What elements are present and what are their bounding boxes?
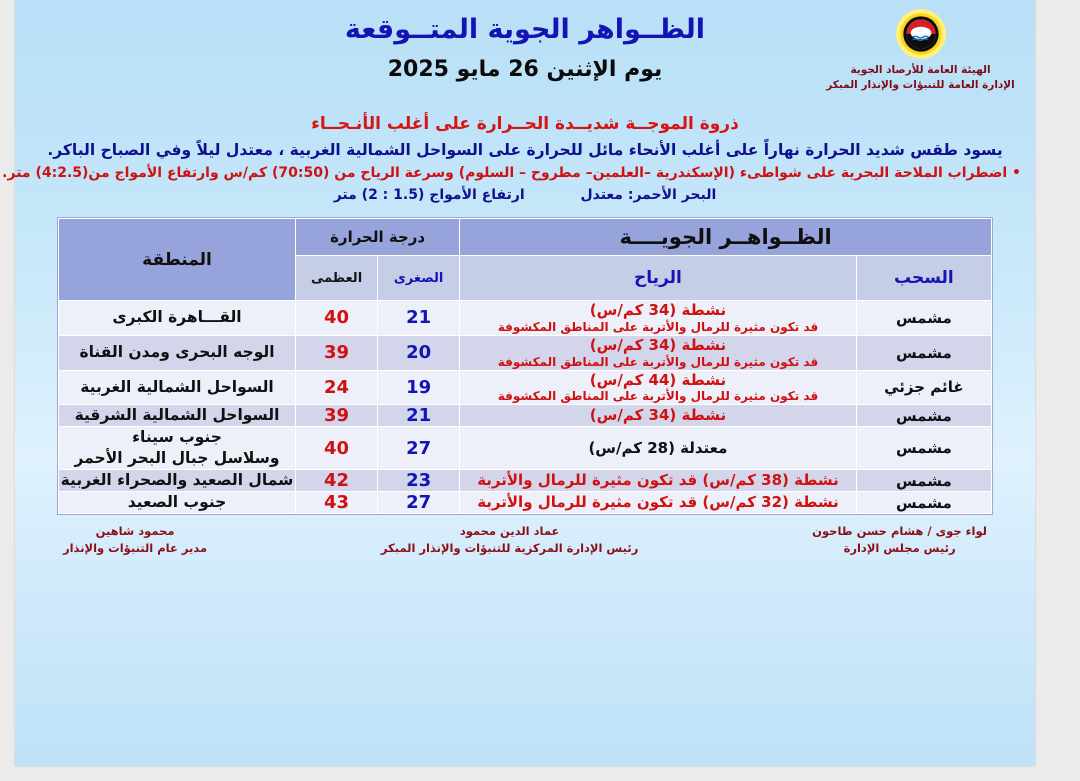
cell-max-temp: 40 xyxy=(296,427,378,470)
cell-wind: نشطة (34 كم/س)قد تكون مثيرة للرمال والأت… xyxy=(460,335,857,370)
header-group-temperature: درجة الحرارة xyxy=(296,219,460,256)
red-sea-wave-height: ارتفاع الأمواج (1.5 : 2) متر xyxy=(334,187,525,203)
page-title: الظــواهر الجوية المتــوقعة xyxy=(15,14,1035,45)
cell-min-temp: 23 xyxy=(378,470,460,492)
document-page: الهيئة العامة للأرصاد الجوية الإدارة الع… xyxy=(15,0,1035,766)
header-column-region: المنطقة xyxy=(59,219,296,301)
cell-wind: معتدلة (28 كم/س) xyxy=(460,427,857,470)
wind-speed-text: نشطة (44 كم/س) xyxy=(460,371,856,390)
cell-region: جنوب سيناءوسلاسل جبال البحر الأحمر xyxy=(59,427,296,470)
cell-region: جنوب الصعيد xyxy=(59,492,296,514)
table-row: مشمسمعتدلة (28 كم/س)2740جنوب سيناءوسلاسل… xyxy=(59,427,992,470)
heatwave-headline: ذروة الموجــة شديــدة الحــرارة على أغلب… xyxy=(29,114,1021,134)
document-header: الهيئة العامة للأرصاد الجوية الإدارة الع… xyxy=(15,0,1035,112)
header-group-phenomena: الظــواهــر الجويــــة xyxy=(460,219,992,256)
cell-min-temp: 19 xyxy=(378,370,460,405)
table-row: مشمسنشطة (38 كم/س) قد تكون مثيرة للرمال … xyxy=(59,470,992,492)
signature-name: لواء جوى / هشام حسن طاحون xyxy=(812,523,987,540)
signature-title: رئيس مجلس الإدارة xyxy=(812,540,987,557)
wind-speed-text: نشطة (34 كم/س) xyxy=(460,301,856,320)
red-sea-conditions: البحر الأحمر: معتدل ارتفاع الأمواج (1.5 … xyxy=(29,187,1021,203)
cell-max-temp: 43 xyxy=(296,492,378,514)
cell-wind: نشطة (38 كم/س) قد تكون مثيرة للرمال والأ… xyxy=(460,470,857,492)
cell-cloud: مشمس xyxy=(856,335,991,370)
marine-warning-text: • اضطراب الملاحة البحرية على شواطىء (الإ… xyxy=(29,165,1021,181)
signature-name: عماد الدين محمود xyxy=(381,523,638,540)
forecast-table: الظــواهــر الجويــــة درجة الحرارة المن… xyxy=(58,218,992,514)
cell-max-temp: 42 xyxy=(296,470,378,492)
cell-region: شمال الصعيد والصحراء الغربية xyxy=(59,470,296,492)
cell-region: السواحل الشمالية الغربية xyxy=(59,370,296,405)
table-row: غائم جزئينشطة (44 كم/س)قد تكون مثيرة للر… xyxy=(59,370,992,405)
wind-speed-text: نشطة (38 كم/س) قد تكون مثيرة للرمال والأ… xyxy=(460,471,856,490)
signature-footer: محمود شاهين مدير عام التنبؤات والإنذار ع… xyxy=(63,523,987,558)
cell-min-temp: 27 xyxy=(378,427,460,470)
general-forecast-text: يسود طقس شديد الحرارة نهاراً على أغلب ال… xyxy=(29,141,1021,159)
cell-min-temp: 20 xyxy=(378,335,460,370)
cell-cloud: غائم جزئي xyxy=(856,370,991,405)
header-column-min-temp: الصغرى xyxy=(378,256,460,301)
cell-max-temp: 24 xyxy=(296,370,378,405)
signature-central-admin-head: عماد الدين محمود رئيس الإدارة المركزية ل… xyxy=(381,523,638,558)
table-row: مشمسنشطة (34 كم/س)قد تكون مثيرة للرمال و… xyxy=(59,301,992,336)
header-column-cloud: السحب xyxy=(856,256,991,301)
cell-cloud: مشمس xyxy=(856,427,991,470)
cell-cloud: مشمس xyxy=(856,470,991,492)
wind-speed-text: معتدلة (28 كم/س) xyxy=(460,439,856,458)
forecast-date: يوم الإثنين 26 مايو 2025 xyxy=(15,57,1035,82)
header-column-wind: الرياح xyxy=(460,256,857,301)
forecast-table-wrapper: الظــواهــر الجويــــة درجة الحرارة المن… xyxy=(57,217,993,515)
signature-title: مدير عام التنبؤات والإنذار xyxy=(63,540,207,557)
cell-max-temp: 40 xyxy=(296,301,378,336)
wind-note-text: قد تكون مثيرة للرمال والأتربة على المناط… xyxy=(460,355,856,370)
wind-speed-text: نشطة (32 كم/س) قد تكون مثيرة للرمال والأ… xyxy=(460,493,856,512)
table-header-group-row: الظــواهــر الجويــــة درجة الحرارة المن… xyxy=(59,219,992,256)
cell-min-temp: 21 xyxy=(378,301,460,336)
cell-min-temp: 27 xyxy=(378,492,460,514)
cell-wind: نشطة (34 كم/س)قد تكون مثيرة للرمال والأت… xyxy=(460,301,857,336)
cell-wind: نشطة (32 كم/س) قد تكون مثيرة للرمال والأ… xyxy=(460,492,857,514)
table-body: مشمسنشطة (34 كم/س)قد تكون مثيرة للرمال و… xyxy=(59,301,992,514)
table-row: مشمسنشطة (32 كم/س) قد تكون مثيرة للرمال … xyxy=(59,492,992,514)
signature-name: محمود شاهين xyxy=(63,523,207,540)
cell-cloud: مشمس xyxy=(856,301,991,336)
warning-section: ذروة الموجــة شديــدة الحــرارة على أغلب… xyxy=(15,114,1035,203)
cell-wind: نشطة (34 كم/س) xyxy=(460,405,857,427)
cell-region: السواحل الشمالية الشرقية xyxy=(59,405,296,427)
cell-max-temp: 39 xyxy=(296,405,378,427)
wind-speed-text: نشطة (34 كم/س) xyxy=(460,406,856,425)
table-head: الظــواهــر الجويــــة درجة الحرارة المن… xyxy=(59,219,992,301)
signature-board-chairman: لواء جوى / هشام حسن طاحون رئيس مجلس الإد… xyxy=(812,523,987,558)
wind-note-text: قد تكون مثيرة للرمال والأتربة على المناط… xyxy=(460,320,856,335)
table-row: مشمسنشطة (34 كم/س)قد تكون مثيرة للرمال و… xyxy=(59,335,992,370)
cell-wind: نشطة (44 كم/س)قد تكون مثيرة للرمال والأت… xyxy=(460,370,857,405)
cell-region: القـــاهرة الكبرى xyxy=(59,301,296,336)
cell-cloud: مشمس xyxy=(856,492,991,514)
red-sea-label: البحر الأحمر: معتدل xyxy=(580,187,716,203)
wind-note-text: قد تكون مثيرة للرمال والأتربة على المناط… xyxy=(460,389,856,404)
cell-min-temp: 21 xyxy=(378,405,460,427)
signature-forecast-director: محمود شاهين مدير عام التنبؤات والإنذار xyxy=(63,523,207,558)
cell-cloud: مشمس xyxy=(856,405,991,427)
table-row: مشمسنشطة (34 كم/س)2139السواحل الشمالية ا… xyxy=(59,405,992,427)
cell-region: الوجه البحرى ومدن القناة xyxy=(59,335,296,370)
wind-speed-text: نشطة (34 كم/س) xyxy=(460,336,856,355)
cell-max-temp: 39 xyxy=(296,335,378,370)
signature-title: رئيس الإدارة المركزية للتنبؤات والإنذار … xyxy=(381,540,638,557)
header-column-max-temp: العظمى xyxy=(296,256,378,301)
